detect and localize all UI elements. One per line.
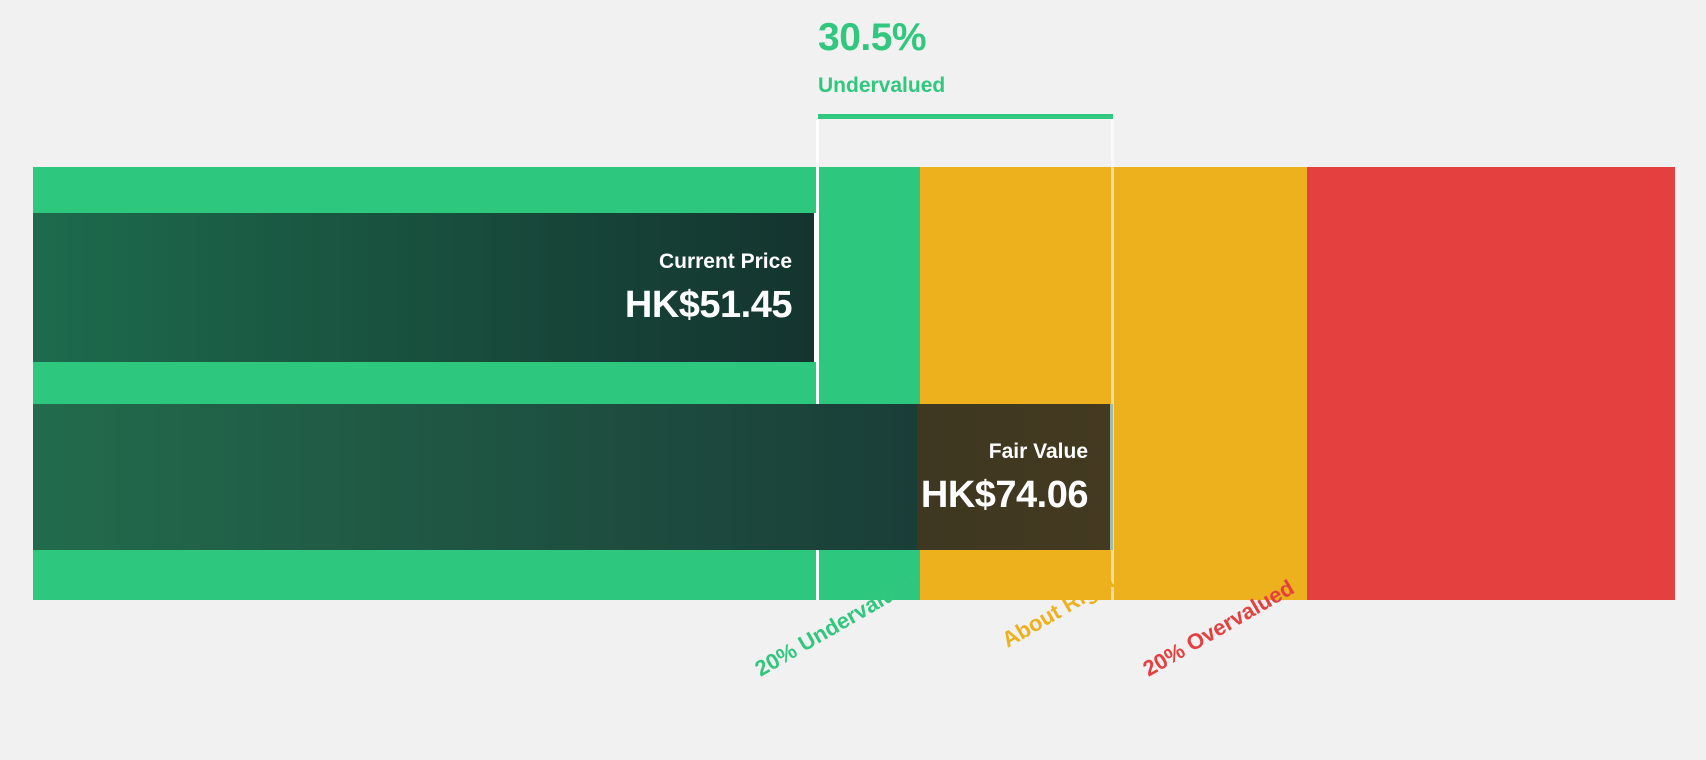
fair-value-label: Fair Value	[989, 441, 1110, 462]
fair-value-bar[interactable]: Fair Value HK$74.06	[33, 404, 1113, 550]
valuation-status: Undervalued	[818, 75, 945, 96]
current-price-value: HK$51.45	[625, 286, 814, 324]
fair-value-value: HK$74.06	[921, 476, 1110, 514]
valuation-percent: 30.5%	[818, 18, 945, 57]
current-price-label: Current Price	[659, 251, 814, 272]
current-price-bar[interactable]: Current Price HK$51.45	[33, 213, 818, 362]
band-overvalued	[1307, 167, 1675, 600]
fair-value-chart: 30.5% Undervalued Current Price HK$51.45…	[0, 0, 1706, 760]
callout-underline	[818, 114, 1113, 119]
valuation-callout: 30.5% Undervalued	[818, 18, 945, 96]
